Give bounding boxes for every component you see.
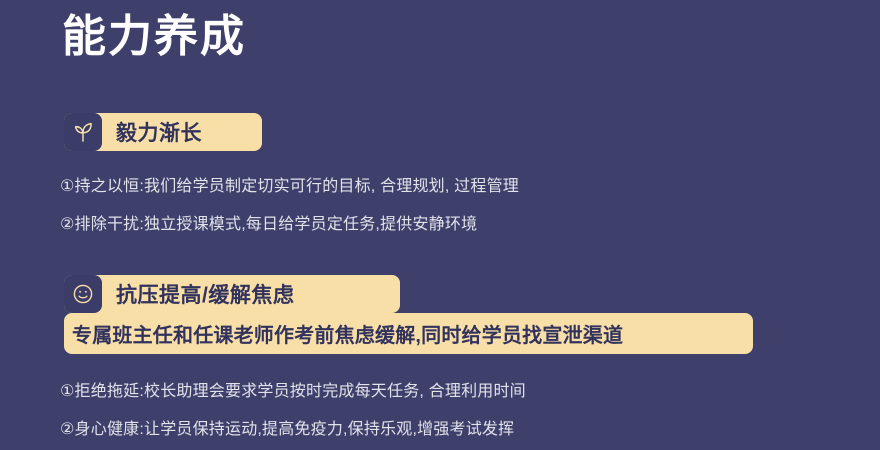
section-badge-stress-relief: 抗压提高/缓解焦虑 [64,275,400,313]
list-item: ②身心健康:让学员保持运动,提高免疫力,保持乐观,增强考试发挥 [60,419,514,441]
sprout-leaf-icon [64,113,102,151]
list-item: ①拒绝拖延:校长助理会要求学员按时完成每天任务, 合理利用时间 [60,381,526,403]
section-badge-perseverance: 毅力渐长 [64,113,262,151]
smiley-face-icon [64,275,102,313]
section-badge-label: 抗压提高/缓解焦虑 [116,279,294,309]
highlight-callout: 专属班主任和任课老师作考前焦虑缓解,同时给学员找宣泄渠道 [64,313,753,354]
highlight-callout-text: 专属班主任和任课老师作考前焦虑缓解,同时给学员找宣泄渠道 [72,319,623,348]
list-item: ②排除干扰:独立授课模式,每日给学员定任务,提供安静环境 [60,214,477,236]
slide-root: 能力养成 毅力渐长 ①持之以恒:我们给学员制定切实可行的目标, 合理规划, 过程… [0,0,880,450]
section-badge-label: 毅力渐长 [116,117,202,147]
page-title: 能力养成 [62,8,246,66]
list-item: ①持之以恒:我们给学员制定切实可行的目标, 合理规划, 过程管理 [60,176,519,198]
